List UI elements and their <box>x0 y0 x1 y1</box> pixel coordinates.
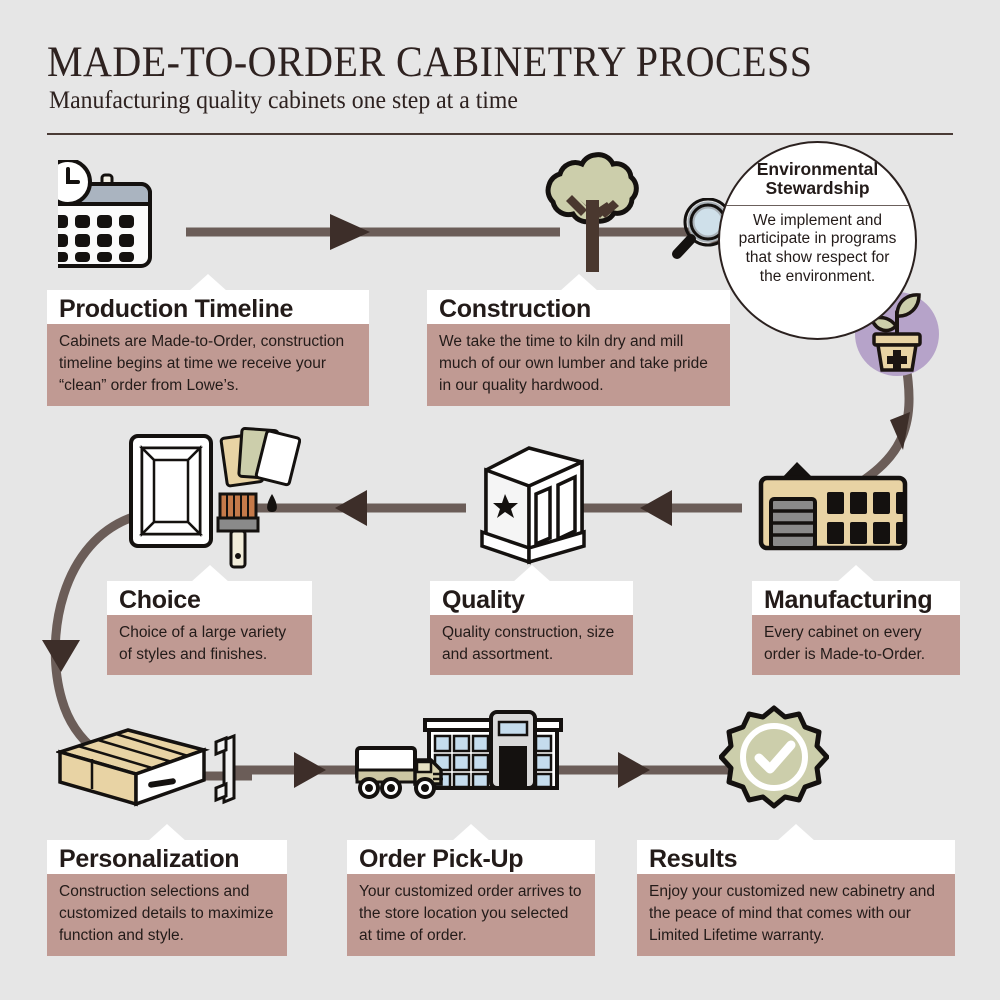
card-title: Personalization <box>47 840 287 874</box>
step-card-quality[interactable]: Quality Quality construction, size and a… <box>430 581 633 675</box>
card-notch <box>148 824 186 841</box>
card-body: Every cabinet on every order is Made-to-… <box>752 615 960 675</box>
arrowhead-row1 <box>330 214 370 250</box>
callout-body: We implement and participate in programs… <box>738 212 898 288</box>
card-title: Manufacturing <box>752 581 960 615</box>
tree-icon <box>527 152 647 277</box>
arrowhead-row3-b <box>618 752 650 788</box>
truck-store-icon <box>355 708 570 808</box>
card-title: Quality <box>430 581 633 615</box>
card-body: Quality construction, size and assortmen… <box>430 615 633 675</box>
step-card-production-timeline[interactable]: Production Timeline Cabinets are Made-to… <box>47 290 369 406</box>
door-swatches-brush-icon <box>126 424 301 569</box>
arrowhead-left-curve <box>42 640 80 672</box>
card-body: Your customized order arrives to the sto… <box>347 874 595 956</box>
calendar-clock-icon <box>58 160 203 270</box>
arrowhead-row3-a <box>294 752 326 788</box>
card-notch <box>513 565 551 582</box>
card-title: Results <box>637 840 955 874</box>
card-title: Choice <box>107 581 312 615</box>
card-notch <box>191 565 229 582</box>
check-badge-icon <box>719 705 829 815</box>
step-card-personalization[interactable]: Personalization Construction selections … <box>47 840 287 956</box>
step-card-order-pick-up[interactable]: Order Pick-Up Your customized order arri… <box>347 840 595 956</box>
card-title: Order Pick-Up <box>347 840 595 874</box>
factory-icon <box>745 452 917 557</box>
callout-title: Environmental Stewardship <box>743 160 893 199</box>
card-body: Construction selections and customized d… <box>47 874 287 956</box>
card-body: Cabinets are Made-to-Order, construction… <box>47 324 369 406</box>
environmental-stewardship-callout: Environmental Stewardship We implement a… <box>718 141 917 340</box>
step-card-results[interactable]: Results Enjoy your customized new cabine… <box>637 840 955 956</box>
arrowhead-row2-b <box>335 490 367 526</box>
card-title: Production Timeline <box>47 290 369 324</box>
card-notch <box>560 274 598 291</box>
infographic-canvas: MADE-TO-ORDER CABINETRY PROCESS Manufact… <box>0 0 1000 1000</box>
card-body: Choice of a large variety of styles and … <box>107 615 312 675</box>
step-card-manufacturing[interactable]: Manufacturing Every cabinet on every ord… <box>752 581 960 675</box>
cabinet-icon <box>474 440 589 565</box>
step-card-choice[interactable]: Choice Choice of a large variety of styl… <box>107 581 312 675</box>
callout-divider <box>725 205 911 206</box>
card-notch <box>189 274 227 291</box>
arrowhead-row2-a <box>640 490 672 526</box>
card-notch <box>452 824 490 841</box>
card-body: We take the time to kiln dry and mill mu… <box>427 324 730 406</box>
step-card-construction[interactable]: Construction We take the time to kiln dr… <box>427 290 730 406</box>
card-body: Enjoy your customized new cabinetry and … <box>637 874 955 956</box>
card-notch <box>837 565 875 582</box>
card-notch <box>777 824 815 841</box>
drawer-handle-icon <box>56 722 256 822</box>
card-title: Construction <box>427 290 730 324</box>
